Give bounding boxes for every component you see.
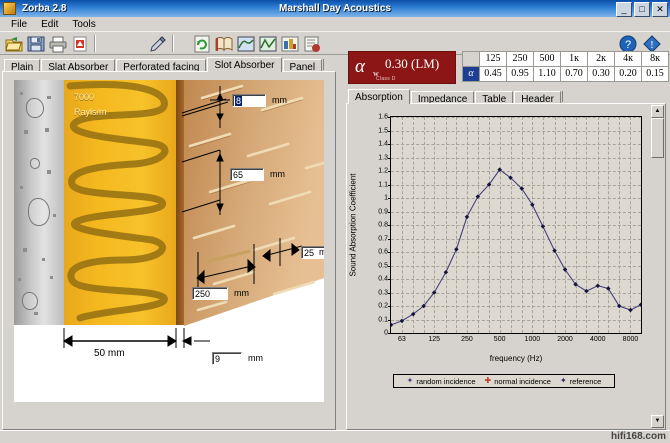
value-8k: 0.15 — [642, 67, 669, 82]
absorption-chart-icon[interactable] — [236, 34, 256, 54]
menu-file[interactable]: File — [4, 19, 34, 30]
slot-width-unit: mm — [272, 95, 287, 105]
data-point-marker — [454, 247, 459, 252]
app-title: Zorba 2.8 — [22, 3, 66, 14]
series-line-random-incidence — [391, 170, 641, 325]
flow-resistivity-value: 7000 — [74, 92, 94, 102]
y-axis-label: Sound Absorption Coefficient — [349, 173, 358, 276]
x-axis-tick-250: 250 — [461, 336, 473, 343]
panel-thickness-unit: mm — [248, 353, 263, 363]
maximize-button[interactable]: □ — [634, 2, 650, 17]
chart-tabs: Absorption Impedance Table Header — [348, 89, 565, 104]
window-center-title: Marshall Day Acoustics — [0, 3, 670, 14]
window-controls: _ □ ✕ — [616, 2, 668, 17]
data-point-marker — [444, 270, 449, 275]
alpha-w-rating-box: α w Class D 0.30 (LM) — [348, 51, 456, 84]
refresh-calculate-icon[interactable] — [192, 34, 212, 54]
data-point-marker — [628, 308, 633, 313]
y-axis-tick-0.5: 0.5 — [378, 262, 388, 269]
y-axis-tick-1.1: 1.1 — [378, 181, 388, 188]
chart-legend: ✦ random incidence ✚ normal incidence ✦ … — [393, 374, 615, 388]
y-axis-tick-1.5: 1.5 — [378, 127, 388, 134]
menu-bar: File Edit Tools — [0, 17, 670, 31]
legend-label-normal-incidence: normal incidence — [494, 377, 551, 386]
bar-chart-icon[interactable] — [280, 34, 300, 54]
export-pdf-icon[interactable] — [70, 34, 90, 54]
y-axis-tick-0.2: 0.2 — [378, 303, 388, 310]
slot-length-input[interactable]: 250 — [192, 287, 228, 300]
value-2k: 0.30 — [588, 67, 615, 82]
application-window: Zorba 2.8 Marshall Day Acoustics _ □ ✕ F… — [0, 0, 670, 443]
menu-tools[interactable]: Tools — [65, 19, 102, 30]
absorption-chart-panel: Sound Absorption Coefficient 00.10.20.30… — [346, 103, 666, 430]
absorber-foam-layer: 7000 Rayls/m — [64, 80, 176, 325]
y-axis-tick-1.4: 1.4 — [378, 141, 388, 148]
data-point-marker — [596, 283, 601, 288]
slot-spacing-unit: mm — [270, 169, 285, 179]
frequency-coefficient-table: 125 250 500 1к 2к 4к 8к α 0.45 0.95 1.10… — [462, 51, 669, 82]
y-axis-tick-0.8: 0.8 — [378, 222, 388, 229]
flow-resistivity-unit: Rayls/m — [74, 107, 107, 117]
y-axis-tick-0.9: 0.9 — [378, 208, 388, 215]
slot-width-input[interactable]: 8 — [232, 94, 266, 107]
book-library-icon[interactable] — [214, 34, 234, 54]
cavity-depth-label: 50 mm — [94, 348, 125, 359]
y-axis-tick-0.6: 0.6 — [378, 249, 388, 256]
header-blank-cell — [463, 52, 480, 67]
y-axis-tick-0.7: 0.7 — [378, 235, 388, 242]
header-125: 125 — [480, 52, 507, 67]
header-1k: 1к — [561, 52, 588, 67]
scroll-thumb[interactable] — [651, 118, 664, 158]
alpha-symbol: α — [355, 57, 365, 76]
y-axis-tick-0.4: 0.4 — [378, 276, 388, 283]
alpha-row-label: α — [463, 67, 480, 82]
impedance-chart-icon[interactable] — [258, 34, 278, 54]
value-4k: 0.20 — [615, 67, 642, 82]
value-1k: 0.70 — [561, 67, 588, 82]
x-axis-tick-8000: 8000 — [623, 336, 639, 343]
svg-text:!: ! — [650, 39, 654, 51]
x-axis-tick-500: 500 — [494, 336, 506, 343]
absorption-class-label: Class D — [376, 76, 396, 82]
header-8k: 8к — [642, 52, 669, 67]
construction-panel: 7000 Rayls/m — [2, 71, 336, 430]
slot-spacing-input[interactable]: 65 — [230, 168, 264, 181]
table-header-row: 125 250 500 1к 2к 4к 8к — [463, 52, 669, 67]
data-point-marker — [552, 248, 557, 253]
tab-slot-absorber[interactable]: Slot Absorber — [207, 57, 281, 72]
data-point-marker — [391, 323, 393, 328]
header-500: 500 — [534, 52, 561, 67]
open-folder-icon[interactable] — [4, 34, 24, 54]
slot-length-unit: mm — [234, 288, 249, 298]
y-tick-mark — [388, 333, 391, 334]
menu-edit[interactable]: Edit — [34, 19, 65, 30]
plot-area: 00.10.20.30.40.50.60.70.80.911.11.21.31.… — [390, 116, 642, 334]
scroll-up-button[interactable]: ▲ — [651, 105, 664, 118]
tab-divider — [323, 59, 324, 70]
legend-label-reference: reference — [570, 377, 602, 386]
y-axis-tick-0.1: 0.1 — [378, 316, 388, 323]
concrete-layer — [14, 80, 64, 325]
print-icon[interactable] — [48, 34, 68, 54]
scroll-down-button[interactable]: ▼ — [651, 415, 664, 428]
watermark: hifi168.com — [611, 431, 666, 442]
legend-marker-random-incidence: ✦ — [407, 377, 414, 385]
close-button[interactable]: ✕ — [652, 2, 668, 17]
x-axis-tick-2000: 2000 — [557, 336, 573, 343]
app-icon — [3, 2, 16, 15]
x-axis-label: frequency (Hz) — [490, 354, 542, 363]
title-bar: Zorba 2.8 Marshall Day Acoustics _ □ ✕ — [0, 0, 670, 17]
y-axis-tick-1.2: 1.2 — [378, 168, 388, 175]
header-250: 250 — [507, 52, 534, 67]
status-bar: hifi168.com — [0, 430, 670, 443]
save-disk-icon[interactable] — [26, 34, 46, 54]
header-2k: 2к — [588, 52, 615, 67]
legend-item-random-incidence: ✦ random incidence — [407, 377, 476, 386]
x-axis-tick-1000: 1000 — [525, 336, 541, 343]
x-axis-tick-4000: 4000 — [590, 336, 606, 343]
chart-series-layer — [391, 117, 641, 333]
material-tabs: Plain Slat Absorber Perforated facing Sl… — [4, 57, 326, 72]
header-4k: 4к — [615, 52, 642, 67]
y-axis-tick-0.3: 0.3 — [378, 289, 388, 296]
x-axis-tick-125: 125 — [428, 336, 440, 343]
value-125: 0.45 — [480, 67, 507, 82]
slotted-panel-face — [184, 80, 324, 370]
construction-diagram: 7000 Rayls/m — [14, 80, 324, 402]
slot-offset-unit: mm — [319, 247, 324, 257]
legend-label-random-incidence: random incidence — [416, 377, 475, 386]
y-axis-tick-1.3: 1.3 — [378, 154, 388, 161]
minimize-button[interactable]: _ — [616, 2, 632, 17]
tab-absorption[interactable]: Absorption — [348, 89, 410, 104]
data-point-marker — [465, 215, 470, 220]
value-250: 0.95 — [507, 67, 534, 82]
x-axis-tick-63: 63 — [398, 336, 406, 343]
pen-tool-icon[interactable] — [148, 34, 168, 54]
alpha-w-value: 0.30 (LM) — [385, 56, 439, 72]
panel-thickness-input[interactable]: 9 — [212, 352, 242, 365]
value-500: 1.10 — [534, 67, 561, 82]
legend-marker-normal-incidence: ✚ — [485, 377, 492, 385]
svg-text:?: ? — [625, 39, 631, 51]
legend-item-reference: ✦ reference — [560, 377, 601, 386]
plot-wrapper: Sound Absorption Coefficient 00.10.20.30… — [355, 111, 653, 391]
table-row: α 0.45 0.95 1.10 0.70 0.30 0.20 0.15 — [463, 67, 669, 82]
legend-item-normal-incidence: ✚ normal incidence — [485, 377, 551, 386]
data-point-marker — [541, 224, 546, 229]
chart-tab-divider — [562, 91, 563, 102]
y-axis-tick-1.6: 1.6 — [378, 114, 388, 121]
report-icon[interactable] — [302, 34, 322, 54]
panel-edge — [176, 80, 184, 325]
chart-vertical-scrollbar[interactable]: ▲ ▼ — [651, 105, 664, 428]
legend-marker-reference: ✦ — [560, 377, 567, 385]
